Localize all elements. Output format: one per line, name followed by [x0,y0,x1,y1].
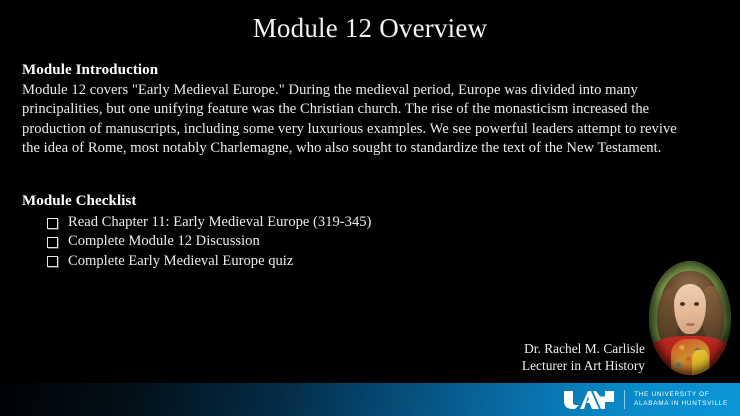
empty-checkbox-icon [47,237,58,248]
empty-checkbox-icon [47,218,58,229]
checklist-list: Read Chapter 11: Early Medieval Europe (… [22,213,712,271]
logo-divider [624,390,625,409]
avatar [649,261,731,375]
list-item-label: Complete Module 12 Discussion [68,233,260,249]
list-item: Read Chapter 11: Early Medieval Europe (… [22,213,712,232]
module-checklist-section: Module Checklist Read Chapter 11: Early … [22,192,712,271]
list-item: Complete Module 12 Discussion [22,232,712,251]
module-introduction-heading: Module Introduction [22,61,712,80]
list-item-label: Complete Early Medieval Europe quiz [68,253,293,269]
uah-logo-mark-icon [563,390,615,410]
list-item: Complete Early Medieval Europe quiz [22,252,712,271]
module-checklist-heading: Module Checklist [22,192,712,211]
instructor-role: Lecturer in Art History [395,358,645,375]
module-introduction-section: Module Introduction Module 12 covers "Ea… [22,61,712,158]
footer-bar: THE UNIVERSITY OF ALABAMA IN HUNTSVILLE [0,383,740,416]
page-title: Module 12 Overview [0,11,740,45]
university-name: THE UNIVERSITY OF ALABAMA IN HUNTSVILLE [634,391,728,408]
uah-logo: THE UNIVERSITY OF ALABAMA IN HUNTSVILLE [563,383,728,416]
module-introduction-paragraph: Module 12 covers "Early Medieval Europe.… [22,81,694,158]
presentation-slide: Module 12 Overview Module Introduction M… [0,0,740,416]
empty-checkbox-icon [47,256,58,267]
instructor-name: Dr. Rachel M. Carlisle [395,341,645,358]
university-name-line2: ALABAMA IN HUNTSVILLE [634,400,728,408]
list-item-label: Read Chapter 11: Early Medieval Europe (… [68,214,371,230]
instructor-credit: Dr. Rachel M. Carlisle Lecturer in Art H… [395,341,645,374]
portrait-vignette [649,261,731,375]
university-name-line1: THE UNIVERSITY OF [634,391,728,399]
